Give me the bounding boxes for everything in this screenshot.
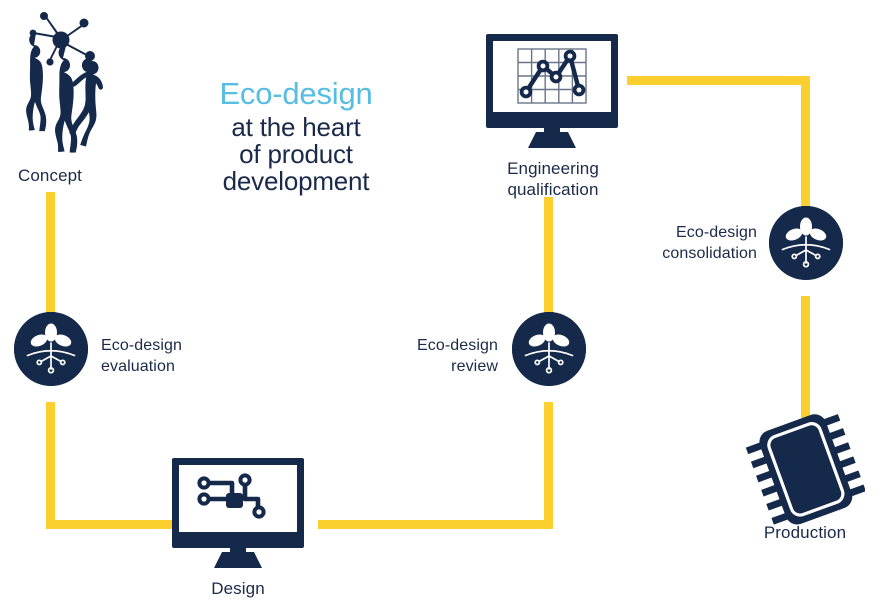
headline-subtitle: at the heart of product development — [176, 114, 416, 195]
stage-label-engineering-qualification: Engineering qualification — [477, 158, 629, 200]
stage-label-production: Production — [745, 522, 865, 543]
eco-design-consolidation-badge[interactable] — [769, 206, 843, 280]
stage-label-design: Design — [188, 578, 288, 599]
connector-design-to-review-vertical — [544, 402, 553, 529]
eco-design-review-label: Eco-design review — [340, 335, 498, 377]
eco-design-review-badge[interactable] — [512, 312, 586, 386]
connector-design-to-review-horizontal — [318, 520, 553, 529]
microchip-icon — [745, 408, 865, 526]
connector-concept-to-evaluation — [46, 192, 55, 312]
connector-engineering-to-consolidation-horizontal — [627, 76, 810, 85]
people-network-icon — [6, 4, 106, 162]
eco-design-consolidation-label: Eco-design consolidation — [595, 222, 757, 264]
connector-evaluation-down — [46, 402, 55, 529]
headline: Eco-design at the heart of product devel… — [176, 76, 416, 195]
headline-eco-design: Eco-design — [176, 76, 416, 112]
stage-label-concept: Concept — [0, 165, 100, 186]
monitor-circuit-icon — [170, 456, 306, 570]
monitor-chart-icon — [484, 32, 620, 150]
connector-evaluation-to-design — [46, 520, 177, 529]
eco-design-flow-diagram: Concept Eco-design evaluation — [0, 0, 886, 614]
connector-consolidation-to-production — [801, 296, 810, 418]
connector-engineering-to-consolidation-vertical — [801, 76, 810, 206]
eco-design-evaluation-label: Eco-design evaluation — [101, 335, 261, 377]
eco-design-evaluation-badge[interactable] — [14, 312, 88, 386]
connector-review-to-engineering — [544, 197, 553, 314]
